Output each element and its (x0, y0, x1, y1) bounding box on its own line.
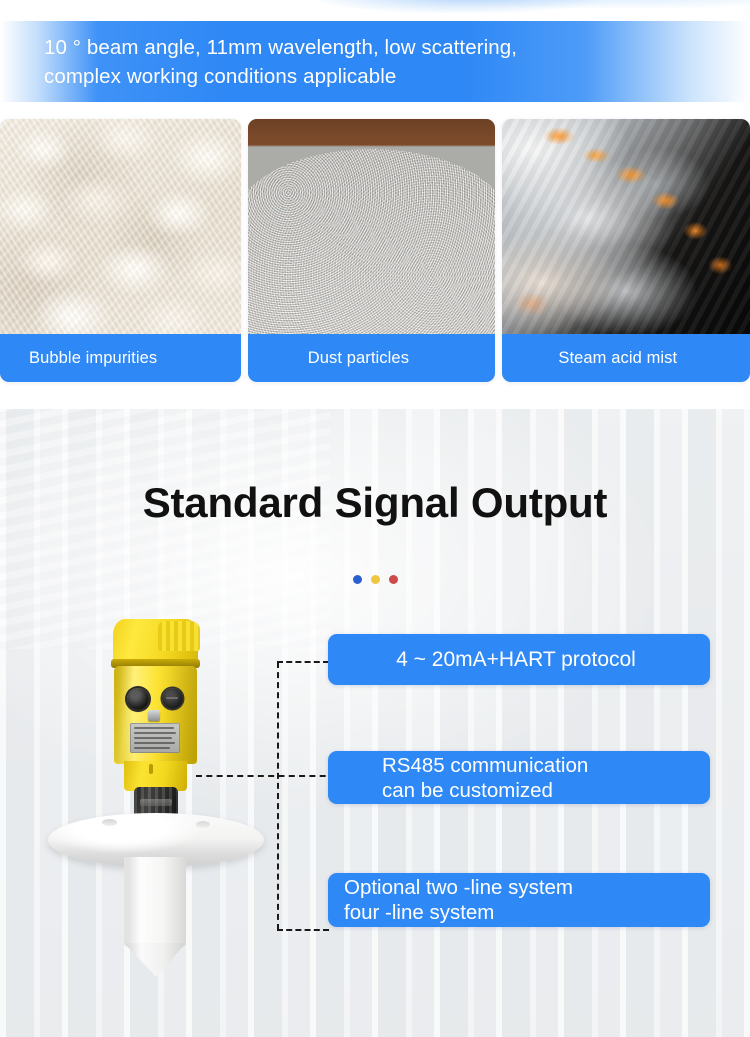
device-cable-gland-port (127, 688, 149, 710)
top-blue-haze-decoration (0, 0, 750, 22)
connector-line-to-callout-1 (277, 661, 329, 663)
feature-card-row: Bubble impurities Dust particles Steam a… (0, 119, 750, 382)
dot-red-icon (389, 575, 398, 584)
device-blind-plug-port (162, 688, 183, 709)
standard-signal-output-section: Standard Signal Output (0, 409, 750, 1037)
feature-headline-banner: 10 ° beam angle, 11mm wavelength, low sc… (0, 21, 750, 102)
section-title: Standard Signal Output (0, 479, 750, 527)
grey-granular-powder-heap-photo (248, 119, 496, 334)
decorative-dot-row (0, 575, 750, 584)
device-flange-bolt-hole (196, 821, 210, 828)
device-nameplate (130, 723, 180, 753)
feature-card-dust-particles[interactable]: Dust particles (248, 119, 496, 382)
device-flange-bolt-hole (102, 819, 117, 826)
callout-rs485-communication[interactable]: RS485 communication can be customized (328, 751, 710, 804)
callout-text: Optional two -line system four -line sys… (328, 875, 573, 925)
dot-blue-icon (353, 575, 362, 584)
dot-yellow-icon (371, 575, 380, 584)
callout-hart-protocol[interactable]: 4 ~ 20mA+HART protocol (328, 634, 710, 685)
callout-text: RS485 communication can be customized (328, 753, 588, 803)
connector-line-vertical (277, 662, 279, 930)
feature-card-label: Bubble impurities (0, 334, 241, 382)
radar-level-transmitter-image (38, 609, 273, 1009)
callout-wire-system-option[interactable]: Optional two -line system four -line sys… (328, 873, 710, 927)
device-neck-nub (149, 764, 153, 774)
device-antenna-cone-tip (124, 943, 186, 977)
callout-text: 4 ~ 20mA+HART protocol (328, 647, 710, 672)
steam-plume-orange-rim-photo (502, 119, 750, 334)
white-cotton-fibre-clumps-photo (0, 119, 241, 334)
feature-card-steam-acid-mist[interactable]: Steam acid mist (502, 119, 750, 382)
feature-headline-text: 10 ° beam angle, 11mm wavelength, low sc… (0, 33, 535, 91)
device-antenna-rod (124, 857, 186, 947)
connector-line-to-callout-3 (277, 929, 329, 931)
feature-card-bubble-impurities[interactable]: Bubble impurities (0, 119, 241, 382)
device-ground-screw (148, 710, 160, 721)
device-cap-fins (158, 621, 200, 651)
connector-line-to-callout-2 (196, 775, 336, 777)
feature-card-label: Steam acid mist (502, 334, 750, 382)
feature-card-label: Dust particles (248, 334, 496, 382)
product-detail-page: 10 ° beam angle, 11mm wavelength, low sc… (0, 0, 750, 1037)
